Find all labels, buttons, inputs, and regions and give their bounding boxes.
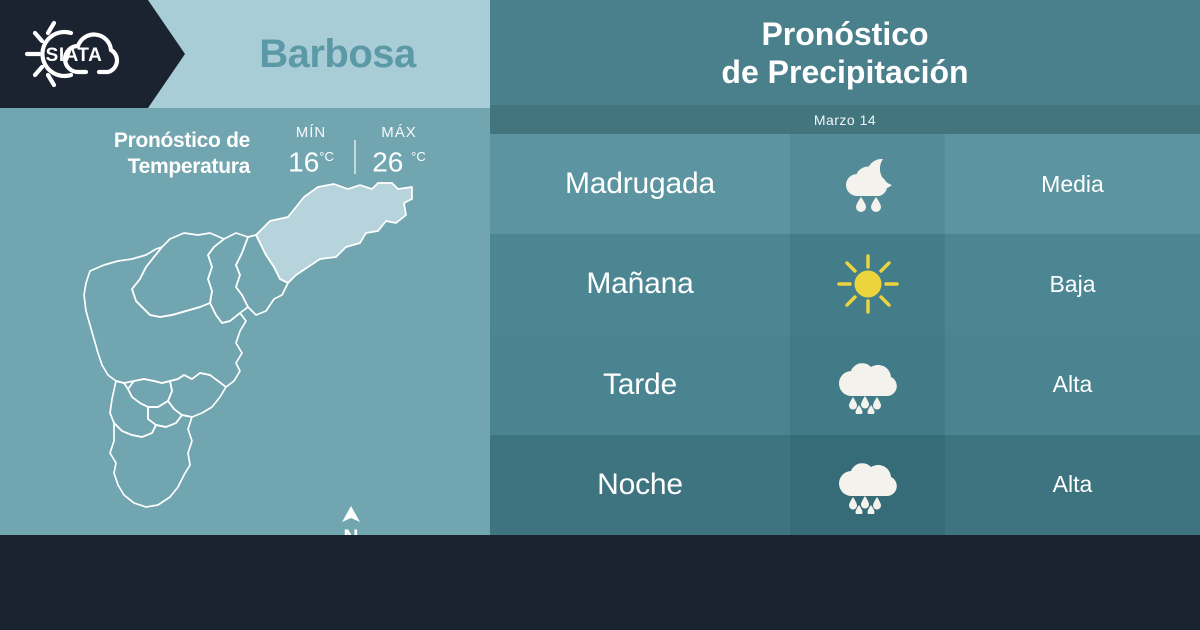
sun-cloud-icon: SIATA [14,14,138,94]
aburra-valley-map: N [60,175,470,530]
table-row[interactable]: Mañana [490,234,1200,334]
forecast-period-cell: Madrugada [490,134,790,234]
temperature-min-unit: °C [319,149,334,164]
temperature-min-value: 16 [288,146,319,177]
forecast-probability-cell: Media [945,134,1200,234]
forecast-period-cell: Noche [490,435,790,535]
map-svg [60,175,470,530]
map-region-barbosa[interactable] [256,183,412,283]
temperature-max-label: MÁX [360,124,438,141]
forecast-probability-label: Alta [1053,371,1093,398]
forecast-period-label: Mañana [586,267,693,301]
forecast-probability-label: Alta [1053,471,1093,498]
svg-text:SIATA: SIATA [46,45,103,66]
temperature-title: Pronóstico de Temperatura [60,122,250,180]
forecast-period-label: Noche [597,468,683,502]
table-row[interactable]: Madrugada Media [490,134,1200,234]
forecast-period-cell: Tarde [490,335,790,435]
forecast-probability-cell: Alta [945,335,1200,435]
temperature-max-value-wrap: 26 °C [360,142,438,177]
infographic-canvas: SIATA Barbosa Pronóstico de Temperatura … [0,0,1200,630]
sun-icon [837,254,899,314]
forecast-probability-cell: Alta [945,435,1200,535]
forecast-probability-label: Baja [1049,271,1095,298]
compass-arrow-icon [338,505,364,523]
temperature-min-value-wrap: 16°C [272,142,350,177]
forecast-grid: Madrugada Media Mañana [490,134,1200,535]
moon-cloud-rain-icon [837,155,899,213]
left-panel: SIATA Barbosa Pronóstico de Temperatura … [0,0,490,535]
map-region-caldas[interactable] [110,415,192,507]
precipitation-title-line2: de Precipitación [721,53,968,91]
temperature-values: MÍN 16°C MÁX 26 °C [272,122,438,177]
precipitation-header: Pronóstico de Precipitación [490,0,1200,105]
forecast-period-label: Madrugada [565,167,715,201]
forecast-icon-cell [790,435,945,535]
forecast-icon-cell [790,134,945,234]
temperature-min-label: MÍN [272,124,350,141]
forecast-date: Marzo 14 [490,105,1200,134]
temperature-separator [354,140,356,174]
footer: @siatamedellin www.siata.gov.co Con el a… [0,535,1200,630]
forecast-period-cell: Mañana [490,234,790,334]
temperature-max-value: 26 [372,146,403,177]
siata-logo-banner: SIATA [0,0,185,108]
table-row[interactable]: Tarde Alta [490,335,1200,435]
forecast-probability-cell: Baja [945,234,1200,334]
temperature-max: MÁX 26 °C [360,124,438,177]
right-panel: Pronóstico de Precipitación Marzo 14 Mad… [490,0,1200,535]
cloud-heavy-rain-icon [837,356,899,414]
cloud-heavy-rain-icon [837,456,899,514]
forecast-period-label: Tarde [603,368,677,402]
precipitation-title-line1: Pronóstico [761,15,928,53]
table-row[interactable]: Noche Alta [490,435,1200,535]
map-region-medellin[interactable] [84,247,246,387]
temperature-max-unit: °C [411,149,426,164]
forecast-probability-label: Media [1041,171,1104,198]
map-region-la-estrella[interactable] [110,381,156,437]
forecast-icon-cell [790,335,945,435]
temperature-title-line1: Pronóstico de [60,128,250,154]
temperature-min: MÍN 16°C [272,124,350,177]
city-title: Barbosa [185,0,490,108]
forecast-icon-cell [790,234,945,334]
